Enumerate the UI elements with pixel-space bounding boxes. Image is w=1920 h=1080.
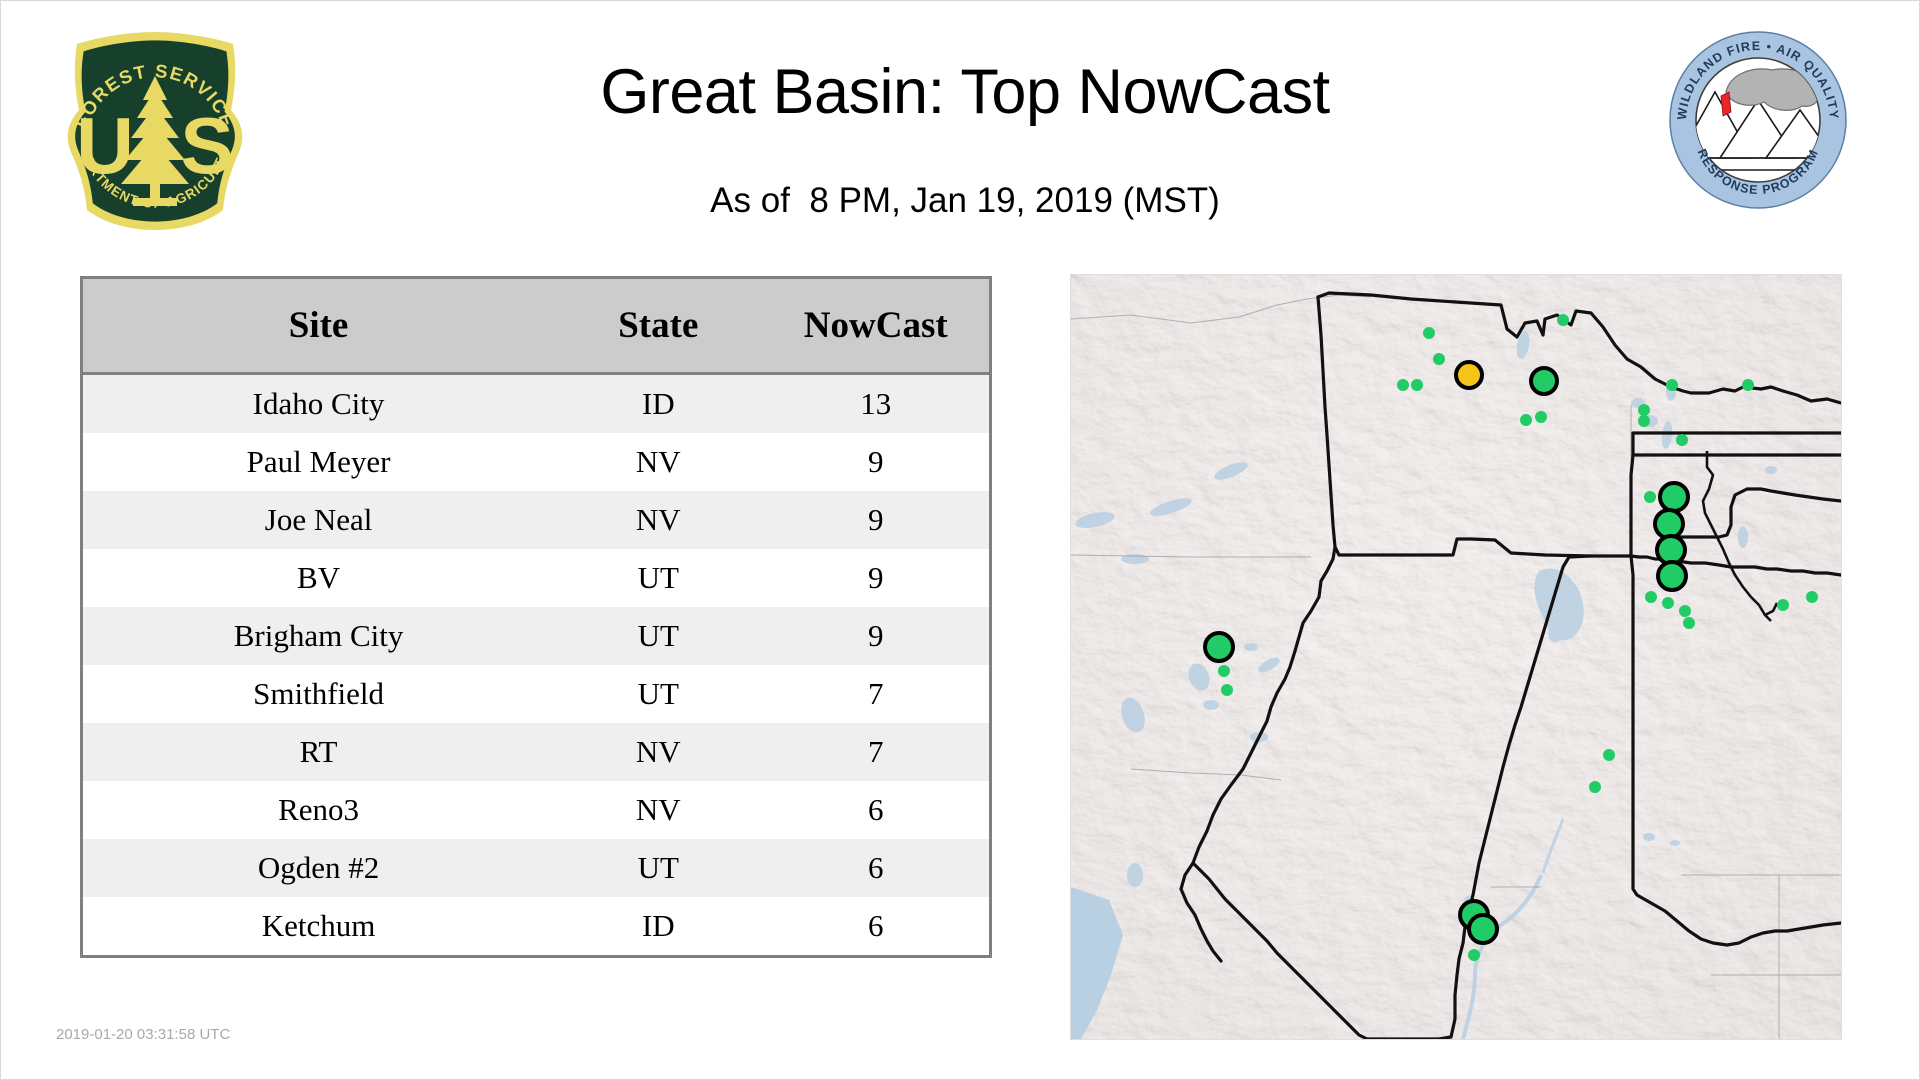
cell-site: RT <box>83 723 554 781</box>
cell-site: Brigham City <box>83 607 554 665</box>
monitor-dot <box>1411 379 1423 391</box>
table-row: Ketchum ID 6 <box>83 897 989 955</box>
table-body: Idaho City ID 13 Paul Meyer NV 9 Joe Nea… <box>83 374 989 956</box>
highlighted-monitor-marker[interactable] <box>1655 510 1683 538</box>
monitor-dot <box>1423 327 1435 339</box>
table-row: Paul Meyer NV 9 <box>83 433 989 491</box>
flame-marker-icon <box>1721 92 1731 116</box>
highlighted-monitor-marker[interactable] <box>1205 633 1233 661</box>
monitor-dot <box>1645 591 1657 603</box>
cell-nowcast: 9 <box>762 607 989 665</box>
monitor-dot <box>1676 434 1688 446</box>
cell-state: ID <box>554 374 762 434</box>
monitor-dot <box>1603 749 1615 761</box>
monitor-dot <box>1683 617 1695 629</box>
monitor-dot <box>1468 949 1480 961</box>
column-header-site[interactable]: Site <box>83 279 554 374</box>
highlighted-monitor-marker[interactable] <box>1531 368 1557 394</box>
cell-site: BV <box>83 549 554 607</box>
cell-state: UT <box>554 665 762 723</box>
monitor-dot <box>1589 781 1601 793</box>
cell-state: NV <box>554 781 762 839</box>
highlighted-monitor-marker[interactable] <box>1469 915 1497 943</box>
column-header-state[interactable]: State <box>554 279 762 374</box>
cell-nowcast: 7 <box>762 665 989 723</box>
table-header-row: Site State NowCast <box>83 279 989 374</box>
highlighted-monitor-marker[interactable] <box>1660 483 1688 511</box>
table-row: Reno3 NV 6 <box>83 781 989 839</box>
monitor-dot <box>1662 597 1674 609</box>
monitor-dot <box>1221 684 1233 696</box>
monitor-dot <box>1679 605 1691 617</box>
cell-state: NV <box>554 723 762 781</box>
cell-site: Smithfield <box>83 665 554 723</box>
cell-state: UT <box>554 607 762 665</box>
cell-state: NV <box>554 491 762 549</box>
column-header-nowcast[interactable]: NowCast <box>762 279 989 374</box>
cell-site: Joe Neal <box>83 491 554 549</box>
monitor-dot <box>1535 411 1547 423</box>
table-row: Idaho City ID 13 <box>83 374 989 434</box>
monitor-dot <box>1218 665 1230 677</box>
cell-site: Ogden #2 <box>83 839 554 897</box>
monitor-dot <box>1397 379 1409 391</box>
cell-nowcast: 6 <box>762 781 989 839</box>
nowcast-table-container: Site State NowCast Idaho City ID 13 Paul… <box>80 276 992 958</box>
generated-timestamp: 2019-01-20 03:31:58 UTC <box>56 1026 230 1043</box>
great-basin-monitor-map[interactable] <box>1070 274 1842 1040</box>
monitor-dot <box>1520 414 1532 426</box>
monitor-dot <box>1557 314 1569 326</box>
cell-site: Paul Meyer <box>83 433 554 491</box>
highlighted-monitor-marker[interactable] <box>1658 562 1686 590</box>
wildland-fire-air-quality-seal-logo: WILDLAND FIRE • AIR QUALITY RESPONSE PRO… <box>1668 30 1848 210</box>
monitor-dot <box>1777 599 1789 611</box>
cell-site: Ketchum <box>83 897 554 955</box>
nowcast-table: Site State NowCast Idaho City ID 13 Paul… <box>83 279 989 955</box>
cell-nowcast: 9 <box>762 549 989 607</box>
table-header: Site State NowCast <box>83 279 989 374</box>
table-row: BV UT 9 <box>83 549 989 607</box>
cell-state: ID <box>554 897 762 955</box>
monitor-dot <box>1433 353 1445 365</box>
highlighted-monitor-marker[interactable] <box>1657 536 1685 564</box>
cell-nowcast: 13 <box>762 374 989 434</box>
monitor-dot <box>1806 591 1818 603</box>
us-forest-service-shield-logo: FOREST SERVICE U S DEPARTMENT OF AGRICUL… <box>55 28 255 233</box>
cell-nowcast: 7 <box>762 723 989 781</box>
page-title: Great Basin: Top NowCast <box>300 56 1630 128</box>
monitor-dot <box>1638 404 1650 416</box>
monitor-dot <box>1638 415 1650 427</box>
cell-nowcast: 9 <box>762 433 989 491</box>
table-row: Joe Neal NV 9 <box>83 491 989 549</box>
cell-nowcast: 6 <box>762 839 989 897</box>
table-row: Brigham City UT 9 <box>83 607 989 665</box>
cell-nowcast: 6 <box>762 897 989 955</box>
table-row: Ogden #2 UT 6 <box>83 839 989 897</box>
page-subtitle: As of 8 PM, Jan 19, 2019 (MST) <box>300 180 1630 222</box>
cell-state: UT <box>554 839 762 897</box>
table-row: Smithfield UT 7 <box>83 665 989 723</box>
cell-state: UT <box>554 549 762 607</box>
cell-state: NV <box>554 433 762 491</box>
cell-nowcast: 9 <box>762 491 989 549</box>
cell-site: Idaho City <box>83 374 554 434</box>
highlighted-monitor-marker[interactable] <box>1456 362 1482 388</box>
cell-site: Reno3 <box>83 781 554 839</box>
monitor-dot <box>1742 379 1754 391</box>
table-row: RT NV 7 <box>83 723 989 781</box>
monitor-dot <box>1644 491 1656 503</box>
monitor-dot <box>1666 379 1678 391</box>
